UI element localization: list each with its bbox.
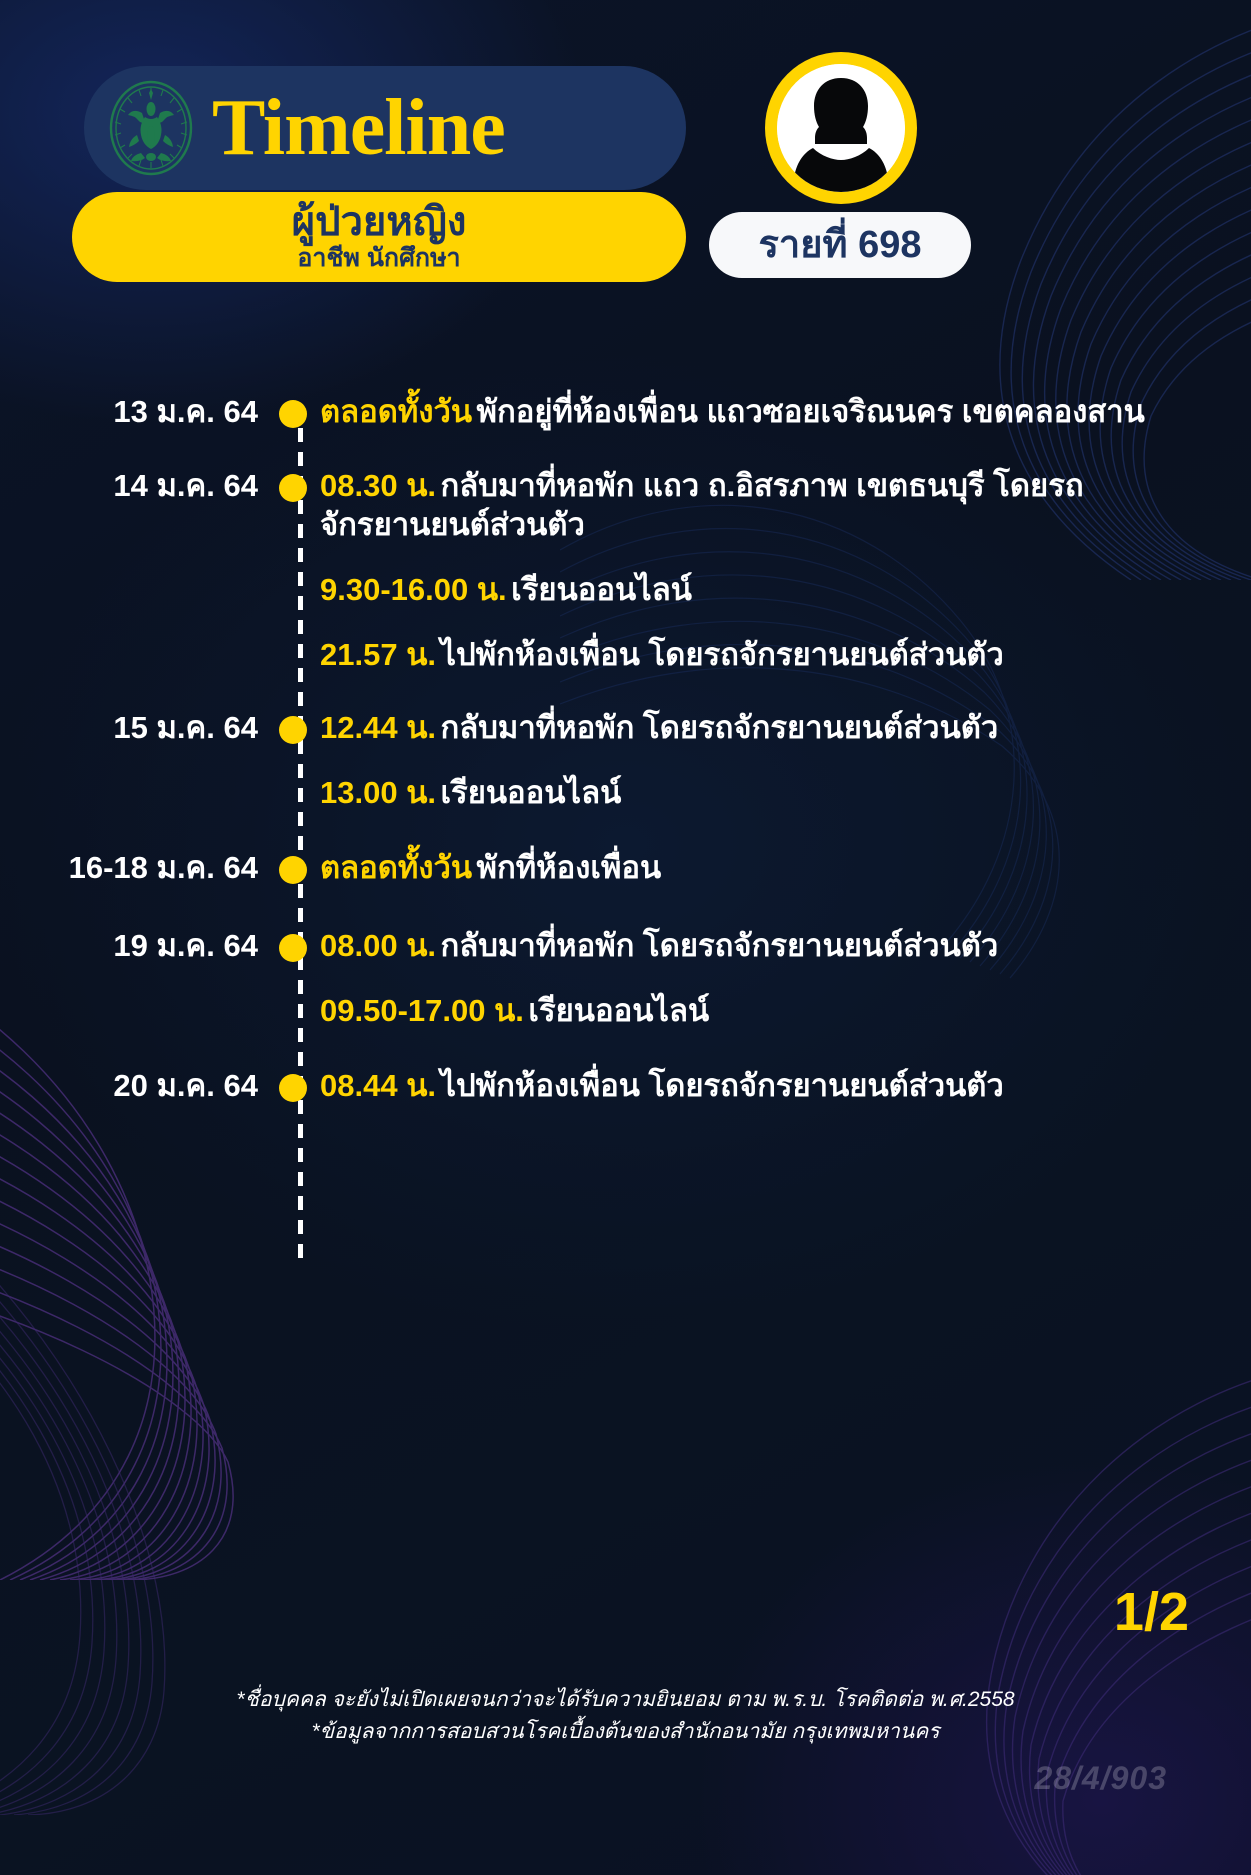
timeline-dot-icon <box>279 934 307 962</box>
timeline-row: 20 ม.ค. 6408.44 น. ไปพักห้องเพื่อน โดยรถ… <box>0 1066 1251 1106</box>
patient-type-label: ผู้ป่วยหญิง <box>292 202 467 243</box>
timeline-event-time: 13.00 น. <box>320 775 436 810</box>
timeline-event-time: 08.00 น. <box>320 928 436 963</box>
timeline-event-text: เรียนออนไลน์ <box>440 775 621 810</box>
case-number-label: รายที่ 698 <box>758 226 921 264</box>
timeline-event-time: ตลอดทั้งวัน <box>320 850 472 885</box>
timeline-event-time: 08.30 น. <box>320 468 436 503</box>
timeline-row: 13 ม.ค. 64ตลอดทั้งวัน พักอยู่ที่ห้องเพื่… <box>0 392 1251 432</box>
timeline-date-label: 14 ม.ค. 64 <box>0 466 272 506</box>
timeline-dot-column <box>272 1066 314 1102</box>
timeline-dot-column <box>272 466 314 502</box>
timeline-event-time: 12.44 น. <box>320 710 436 745</box>
watermark-label: 28/4/903 <box>1034 1760 1167 1797</box>
timeline-row: 19 ม.ค. 6408.00 น. กลับมาที่หอพัก โดยรถจ… <box>0 926 1251 1030</box>
timeline-event-time: 08.44 น. <box>320 1068 436 1103</box>
timeline-dot-column <box>272 926 314 962</box>
timeline-row: 16-18 ม.ค. 64ตลอดทั้งวัน พักที่ห้องเพื่อ… <box>0 848 1251 888</box>
disclaimer: *ชื่อบุคคล จะยังไม่เปิดเผยจนกว่าจะได้รับ… <box>0 1684 1251 1747</box>
timeline-date-label: 16-18 ม.ค. 64 <box>0 848 272 888</box>
timeline-infographic: Timeline ผู้ป่วยหญิง อาชีพ นักศึกษา <box>0 0 1251 1875</box>
patient-subtitle-band: ผู้ป่วยหญิง อาชีพ นักศึกษา <box>72 192 686 282</box>
timeline-event-text: พักที่ห้องเพื่อน <box>477 850 662 885</box>
timeline-row: 14 ม.ค. 6408.30 น. กลับมาที่หอพัก แถว ถ.… <box>0 466 1251 674</box>
timeline-dot-icon <box>279 716 307 744</box>
person-silhouette-avatar-icon <box>777 64 905 192</box>
timeline-row: 15 ม.ค. 6412.44 น. กลับมาที่หอพัก โดยรถจ… <box>0 708 1251 812</box>
page-number: 1/2 <box>1114 1585 1189 1639</box>
timeline-event: 09.50-17.00 น. เรียนออนไลน์ <box>320 991 1217 1030</box>
disclaimer-line-2: *ข้อมูลจากการสอบสวนโรคเบื้องต้นของสำนักอ… <box>0 1716 1251 1748</box>
timeline-row-body: 08.30 น. กลับมาที่หอพัก แถว ถ.อิสรภาพ เข… <box>314 466 1251 674</box>
timeline-event-time: 21.57 น. <box>320 637 436 672</box>
timeline-event-text: ไปพักห้องเพื่อน โดยรถจักรยานยนต์ส่วนตัว <box>440 1068 1003 1103</box>
title-badge: Timeline <box>84 66 686 190</box>
timeline-event-text: เรียนออนไลน์ <box>528 993 709 1028</box>
timeline-dot-column <box>272 392 314 428</box>
timeline-event: 08.00 น. กลับมาที่หอพัก โดยรถจักรยานยนต์… <box>320 926 1217 965</box>
timeline-event: 08.30 น. กลับมาที่หอพัก แถว ถ.อิสรภาพ เข… <box>320 466 1217 544</box>
header: Timeline ผู้ป่วยหญิง อาชีพ นักศึกษา <box>0 0 1251 330</box>
timeline-event: ตลอดทั้งวัน พักที่ห้องเพื่อน <box>320 848 1217 887</box>
timeline-date-label: 13 ม.ค. 64 <box>0 392 272 432</box>
timeline-event: 12.44 น. กลับมาที่หอพัก โดยรถจักรยานยนต์… <box>320 708 1217 747</box>
timeline-event-text: ไปพักห้องเพื่อน โดยรถจักรยานยนต์ส่วนตัว <box>440 637 1003 672</box>
timeline-event: 13.00 น. เรียนออนไลน์ <box>320 773 1217 812</box>
timeline-row-body: ตลอดทั้งวัน พักที่ห้องเพื่อน <box>314 848 1251 887</box>
timeline-date-label: 20 ม.ค. 64 <box>0 1066 272 1106</box>
timeline-row-body: ตลอดทั้งวัน พักอยู่ที่ห้องเพื่อน แถวซอยเ… <box>314 392 1251 431</box>
timeline-row-body: 08.00 น. กลับมาที่หอพัก โดยรถจักรยานยนต์… <box>314 926 1251 1030</box>
timeline-dot-column <box>272 708 314 744</box>
timeline-event: 21.57 น. ไปพักห้องเพื่อน โดยรถจักรยานยนต… <box>320 635 1217 674</box>
timeline-dot-icon <box>279 856 307 884</box>
page-title: Timeline <box>212 88 505 168</box>
timeline-date-label: 15 ม.ค. 64 <box>0 708 272 748</box>
timeline-event-text: กลับมาที่หอพัก โดยรถจักรยานยนต์ส่วนตัว <box>440 928 998 963</box>
timeline-list: 13 ม.ค. 64ตลอดทั้งวัน พักอยู่ที่ห้องเพื่… <box>0 392 1251 1105</box>
timeline-dot-icon <box>279 1074 307 1102</box>
avatar-ring <box>765 52 917 204</box>
avatar <box>765 52 917 204</box>
timeline-event-text: กลับมาที่หอพัก โดยรถจักรยานยนต์ส่วนตัว <box>440 710 998 745</box>
bangkok-metropolitan-administration-seal-icon <box>108 79 194 177</box>
timeline-event: ตลอดทั้งวัน พักอยู่ที่ห้องเพื่อน แถวซอยเ… <box>320 392 1217 431</box>
timeline-event-time: 9.30-16.00 น. <box>320 572 507 607</box>
timeline-event-text: พักอยู่ที่ห้องเพื่อน แถวซอยเจริณนคร เขตค… <box>477 394 1145 429</box>
timeline-row-body: 08.44 น. ไปพักห้องเพื่อน โดยรถจักรยานยนต… <box>314 1066 1251 1105</box>
timeline-event-time: ตลอดทั้งวัน <box>320 394 472 429</box>
patient-occupation-label: อาชีพ นักศึกษา <box>297 244 460 273</box>
timeline-dot-column <box>272 848 314 884</box>
timeline-date-label: 19 ม.ค. 64 <box>0 926 272 966</box>
timeline-event-text: เรียนออนไลน์ <box>511 572 692 607</box>
case-number-badge: รายที่ 698 <box>709 212 971 278</box>
timeline-event: 08.44 น. ไปพักห้องเพื่อน โดยรถจักรยานยนต… <box>320 1066 1217 1105</box>
timeline-row-body: 12.44 น. กลับมาที่หอพัก โดยรถจักรยานยนต์… <box>314 708 1251 812</box>
timeline-event: 9.30-16.00 น. เรียนออนไลน์ <box>320 570 1217 609</box>
timeline-event-time: 09.50-17.00 น. <box>320 993 524 1028</box>
timeline-dot-icon <box>279 474 307 502</box>
disclaimer-line-1: *ชื่อบุคคล จะยังไม่เปิดเผยจนกว่าจะได้รับ… <box>0 1684 1251 1716</box>
timeline-dot-icon <box>279 400 307 428</box>
